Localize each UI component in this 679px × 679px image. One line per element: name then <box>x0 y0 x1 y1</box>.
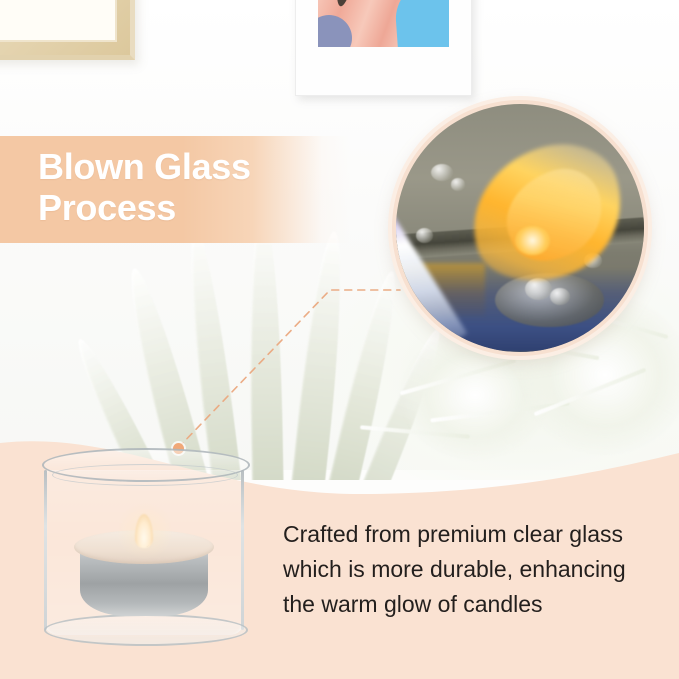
feature-description: Crafted from premium clear glass which i… <box>283 517 665 622</box>
feature-description-line-2: which is more durable, enhancing <box>283 552 665 587</box>
inset-photo-circle <box>392 100 648 356</box>
glassblowing-torch-photo <box>396 104 644 352</box>
gold-picture-frame <box>0 0 135 60</box>
glass-wall-right <box>241 470 244 630</box>
page-title-line-2: Process <box>38 187 338 228</box>
flame-hotspot <box>515 226 550 256</box>
feature-description-line-1: Crafted from premium clear glass <box>283 517 665 552</box>
white-matted-frame <box>295 0 472 96</box>
glass-wall-left <box>44 470 47 630</box>
glass-bubble <box>431 164 453 181</box>
abstract-art-print <box>318 0 449 47</box>
glass-bubble <box>525 278 552 300</box>
page-title-line-1: Blown Glass <box>38 146 251 187</box>
product-infographic: Blown Glass Process Crafted from premium… <box>0 0 679 679</box>
art-shape-dark-vertical <box>332 0 365 8</box>
glass-bubble <box>416 228 433 243</box>
molten-glass-blob <box>495 273 604 328</box>
glass-inner-rim <box>52 464 238 486</box>
page-title: Blown Glass Process <box>38 146 338 228</box>
feature-description-line-3: the warm glow of candles <box>283 587 665 622</box>
clear-glass-tealight-holder <box>44 452 244 637</box>
glass-base <box>44 614 248 646</box>
art-shape-blue-small <box>318 15 352 47</box>
glass-bubble <box>550 288 570 305</box>
art-shape-blue <box>393 0 449 47</box>
glass-bubble <box>451 178 466 190</box>
